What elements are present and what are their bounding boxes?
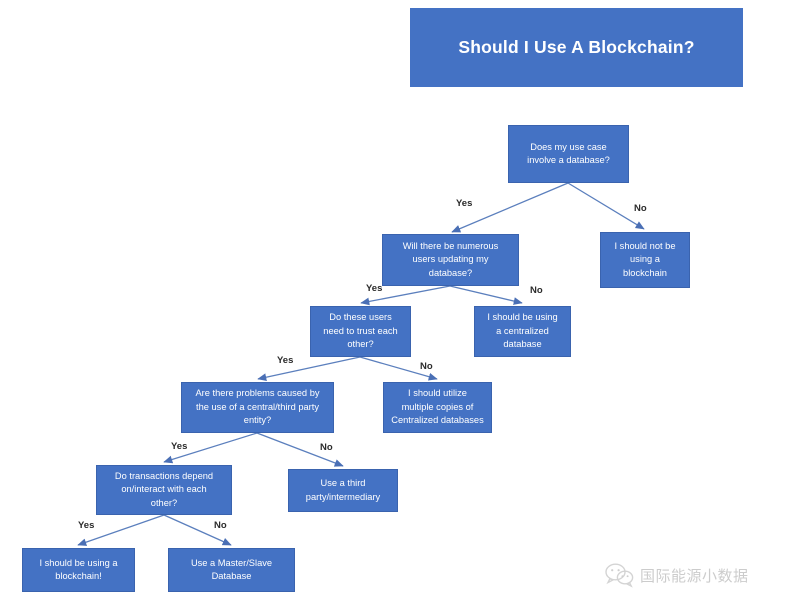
node-label: Will there be numerous users updating my… xyxy=(403,240,499,281)
node-label: Use a third party/intermediary xyxy=(306,477,380,504)
title-banner: Should I Use A Blockchain? xyxy=(410,8,743,87)
edge-q2-t2 xyxy=(450,286,522,303)
node-label: I should not be using a blockchain xyxy=(615,240,676,281)
edge-label-q3-no: No xyxy=(420,361,433,372)
node-t4-third-party-intermediary[interactable]: Use a third party/intermediary xyxy=(288,469,398,512)
node-q4-central-third-party-problems[interactable]: Are there problems caused by the use of … xyxy=(181,382,334,433)
node-label: Do these users need to trust each other? xyxy=(323,311,397,352)
node-label: Does my use case involve a database? xyxy=(527,141,610,168)
edge-label-q4-no: No xyxy=(320,442,333,453)
watermark: 国际能源小数据 xyxy=(604,562,749,588)
node-label: Are there problems caused by the use of … xyxy=(195,387,319,428)
edge-label-q3-yes: Yes xyxy=(277,355,293,366)
node-q3-users-trust[interactable]: Do these users need to trust each other? xyxy=(310,306,411,357)
node-t6-master-slave-database[interactable]: Use a Master/Slave Database xyxy=(168,548,295,592)
node-t1-not-using-blockchain[interactable]: I should not be using a blockchain xyxy=(600,232,690,288)
node-label: Do transactions depend on/interact with … xyxy=(115,470,213,511)
edge-label-q5-yes: Yes xyxy=(78,520,94,531)
node-t2-centralized-database[interactable]: I should be using a centralized database xyxy=(474,306,571,357)
node-q1-use-case-database[interactable]: Does my use case involve a database? xyxy=(508,125,629,183)
edge-q1-t1 xyxy=(568,183,644,229)
edge-q3-q4 xyxy=(258,357,360,379)
node-label: I should be using a blockchain! xyxy=(39,557,117,584)
edge-label-q4-yes: Yes xyxy=(171,441,187,452)
edge-label-q1-yes: Yes xyxy=(456,198,472,209)
edge-label-q2-no: No xyxy=(530,285,543,296)
node-q5-transactions-depend[interactable]: Do transactions depend on/interact with … xyxy=(96,465,232,515)
node-q2-numerous-users[interactable]: Will there be numerous users updating my… xyxy=(382,234,519,286)
node-label: I should utilize multiple copies of Cent… xyxy=(391,387,484,428)
page-title: Should I Use A Blockchain? xyxy=(458,37,694,58)
watermark-text: 国际能源小数据 xyxy=(640,565,749,586)
node-t3-multiple-copies-centralized[interactable]: I should utilize multiple copies of Cent… xyxy=(383,382,492,433)
edge-label-q1-no: No xyxy=(634,203,647,214)
node-label: I should be using a centralized database xyxy=(487,311,557,352)
edge-label-q2-yes: Yes xyxy=(366,283,382,294)
edge-label-q5-no: No xyxy=(214,520,227,531)
wechat-icon xyxy=(604,562,634,588)
node-label: Use a Master/Slave Database xyxy=(191,557,272,584)
flowchart-canvas: Should I Use A Blockchain? D xyxy=(0,0,800,614)
node-t5-should-use-blockchain[interactable]: I should be using a blockchain! xyxy=(22,548,135,592)
